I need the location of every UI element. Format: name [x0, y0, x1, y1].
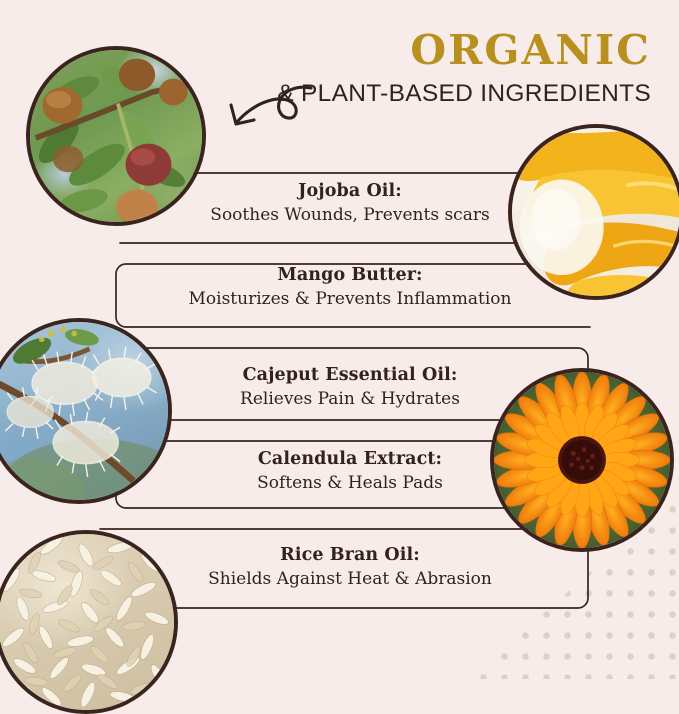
ingredient-row: Jojoba Oil: Soothes Wounds, Prevents sca…: [175, 182, 525, 225]
ingredient-name: Mango Butter:: [175, 266, 525, 286]
ingredient-row: Calendula Extract: Softens & Heals Pads: [175, 450, 525, 493]
rice-grains-photo: [0, 530, 178, 714]
ingredient-description: Moisturizes & Prevents Inflammation: [175, 289, 525, 309]
mango-butter-swirls: [512, 128, 679, 296]
ingredient-name: Rice Bran Oil:: [175, 546, 525, 566]
cajeput-blossom-photo: [0, 318, 172, 504]
ingredient-row: Rice Bran Oil: Shields Against Heat & Ab…: [175, 546, 525, 589]
ingredient-description: Relieves Pain & Hydrates: [175, 389, 525, 409]
curly-arrow-doodle: [218, 72, 322, 164]
cajeput-blossoms: [0, 322, 168, 500]
rice-grain-shapes: [0, 534, 174, 710]
ingredient-description: Soothes Wounds, Prevents scars: [175, 205, 525, 225]
ingredient-name: Calendula Extract:: [175, 450, 525, 470]
mango-butter-photo: [508, 124, 679, 300]
infographic-canvas: ORGANIC & PLANT-BASED INGREDIENTS: [0, 0, 679, 679]
ingredient-name: Cajeput Essential Oil:: [175, 366, 525, 386]
page-subtitle: & PLANT-BASED INGREDIENTS: [277, 82, 651, 107]
header-block: ORGANIC & PLANT-BASED INGREDIENTS: [277, 30, 651, 107]
ingredient-description: Shields Against Heat & Abrasion: [175, 569, 525, 589]
page-title: ORGANIC: [277, 30, 651, 71]
ingredient-description: Softens & Heals Pads: [175, 473, 525, 493]
ingredient-name: Jojoba Oil:: [175, 182, 525, 202]
ingredient-row: Cajeput Essential Oil: Relieves Pain & H…: [175, 366, 525, 409]
ingredient-row: Mango Butter: Moisturizes & Prevents Inf…: [175, 266, 525, 309]
